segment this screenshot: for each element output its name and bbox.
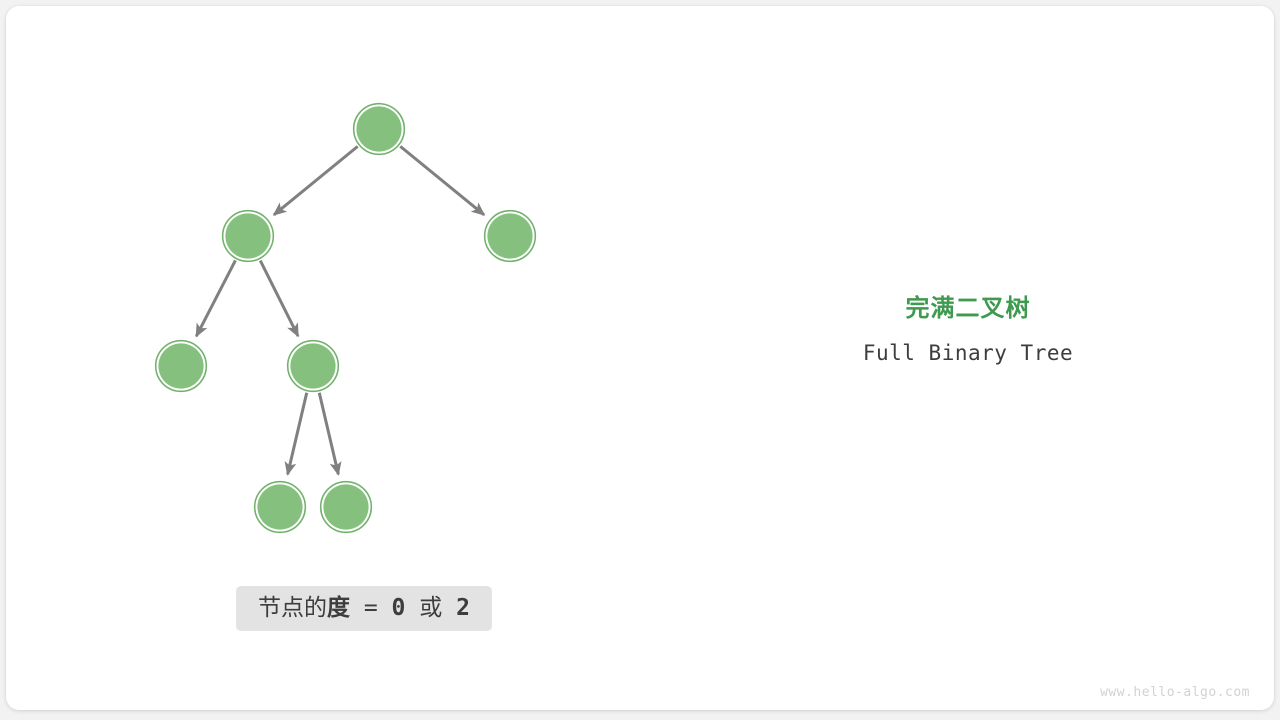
tree-node-layer (156, 104, 536, 533)
degree-rule-badge: 节点的度 = 0 或 2 (236, 586, 492, 631)
tree-node (255, 482, 306, 533)
tree-node-fill (225, 213, 270, 258)
tree-node (485, 211, 536, 262)
tree-edge (196, 260, 235, 336)
tree-node-fill (323, 484, 368, 529)
tree-edge (260, 261, 298, 336)
degree-rule-text: 节点的度 = 0 或 2 (258, 597, 470, 620)
tree-edge (319, 393, 338, 475)
page-title-cn: 完满二叉树 (768, 294, 1168, 324)
tree-node-fill (356, 106, 401, 151)
tree-node-fill (257, 484, 302, 529)
tree-edge (274, 146, 358, 214)
degree-rule-emphasis: 2 (456, 595, 470, 621)
tree-node (156, 341, 207, 392)
watermark: www.hello-algo.com (1100, 685, 1250, 700)
degree-rule-plain: = (350, 595, 392, 621)
tree-node (321, 482, 372, 533)
degree-rule-emphasis: 度 (327, 595, 350, 621)
tree-edge (400, 146, 484, 214)
degree-rule-plain: 节点的 (258, 595, 327, 621)
diagram-title-block: 完满二叉树 Full Binary Tree (768, 294, 1168, 366)
tree-node-fill (290, 343, 335, 388)
tree-node (354, 104, 405, 155)
degree-rule-emphasis: 0 (392, 595, 406, 621)
page-title-en: Full Binary Tree (768, 340, 1168, 366)
tree-node (288, 341, 339, 392)
tree-edge-layer (196, 146, 484, 474)
tree-edge (288, 393, 307, 475)
tree-node-fill (487, 213, 532, 258)
tree-node (223, 211, 274, 262)
screenshot-canvas: 完满二叉树 Full Binary Tree 节点的度 = 0 或 2 www.… (0, 0, 1280, 720)
tree-node-fill (158, 343, 203, 388)
degree-rule-plain: 或 (405, 595, 456, 621)
